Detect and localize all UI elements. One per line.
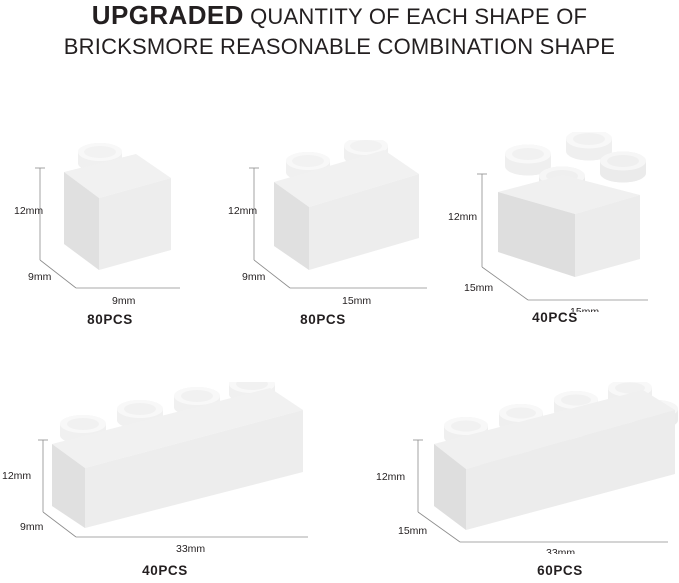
dim-depth-1x1: 9mm: [28, 271, 52, 283]
dim-width-1x4: 33mm: [176, 543, 205, 554]
brick-1x1-illustration: 12mm 9mm 9mm: [8, 140, 208, 310]
page-title: UPGRADED QUANTITY OF EACH SHAPE OF BRICK…: [0, 2, 679, 60]
quantity-label-1x2: 80PCS: [268, 312, 378, 327]
title-line-1-rest: QUANTITY OF EACH SHAPE OF: [244, 4, 587, 29]
brick-figure-2x4: 12mm 15mm 33mm: [338, 382, 679, 554]
title-line-2: BRICKSMORE REASONABLE COMBINATION SHAPE: [0, 33, 679, 60]
title-line-1: UPGRADED QUANTITY OF EACH SHAPE OF: [0, 2, 679, 33]
dim-depth-1x2: 9mm: [242, 271, 266, 283]
dim-height-2x2: 12mm: [448, 211, 477, 223]
brick-figure-1x2: 12mm 9mm 15mm: [222, 140, 437, 310]
brick-figure-1x1: 12mm 9mm 9mm: [8, 140, 208, 310]
dim-height-1x4: 12mm: [2, 470, 31, 482]
dim-height-1x2: 12mm: [228, 205, 257, 217]
quantity-label-1x1: 80PCS: [55, 312, 165, 327]
quantity-label-1x4: 40PCS: [110, 563, 220, 578]
dim-width-1x2: 15mm: [342, 295, 371, 307]
brick-figure-2x2: 12mm 15mm 15mm: [440, 132, 665, 312]
dim-height-1x1: 12mm: [14, 205, 43, 217]
brick-figure-1x4: 12mm 9mm 33mm: [0, 382, 318, 554]
title-emphasis: UPGRADED: [92, 0, 244, 30]
brick-1x4-illustration: 12mm 9mm 33mm: [0, 382, 318, 554]
dim-height-2x4: 12mm: [376, 471, 405, 483]
brick-2x2-illustration: 12mm 15mm 15mm: [440, 132, 665, 312]
dim-width-1x1: 9mm: [112, 295, 136, 307]
brick-1x2-illustration: 12mm 9mm 15mm: [222, 140, 437, 310]
dim-depth-2x4: 15mm: [398, 525, 427, 537]
dim-depth-2x2: 15mm: [464, 282, 493, 294]
dim-depth-1x4: 9mm: [20, 521, 44, 533]
dim-width-2x4: 33mm: [546, 547, 575, 554]
quantity-label-2x4: 60PCS: [505, 563, 615, 578]
quantity-label-2x2: 40PCS: [500, 310, 610, 325]
brick-2x4-illustration: 12mm 15mm 33mm: [338, 382, 679, 554]
